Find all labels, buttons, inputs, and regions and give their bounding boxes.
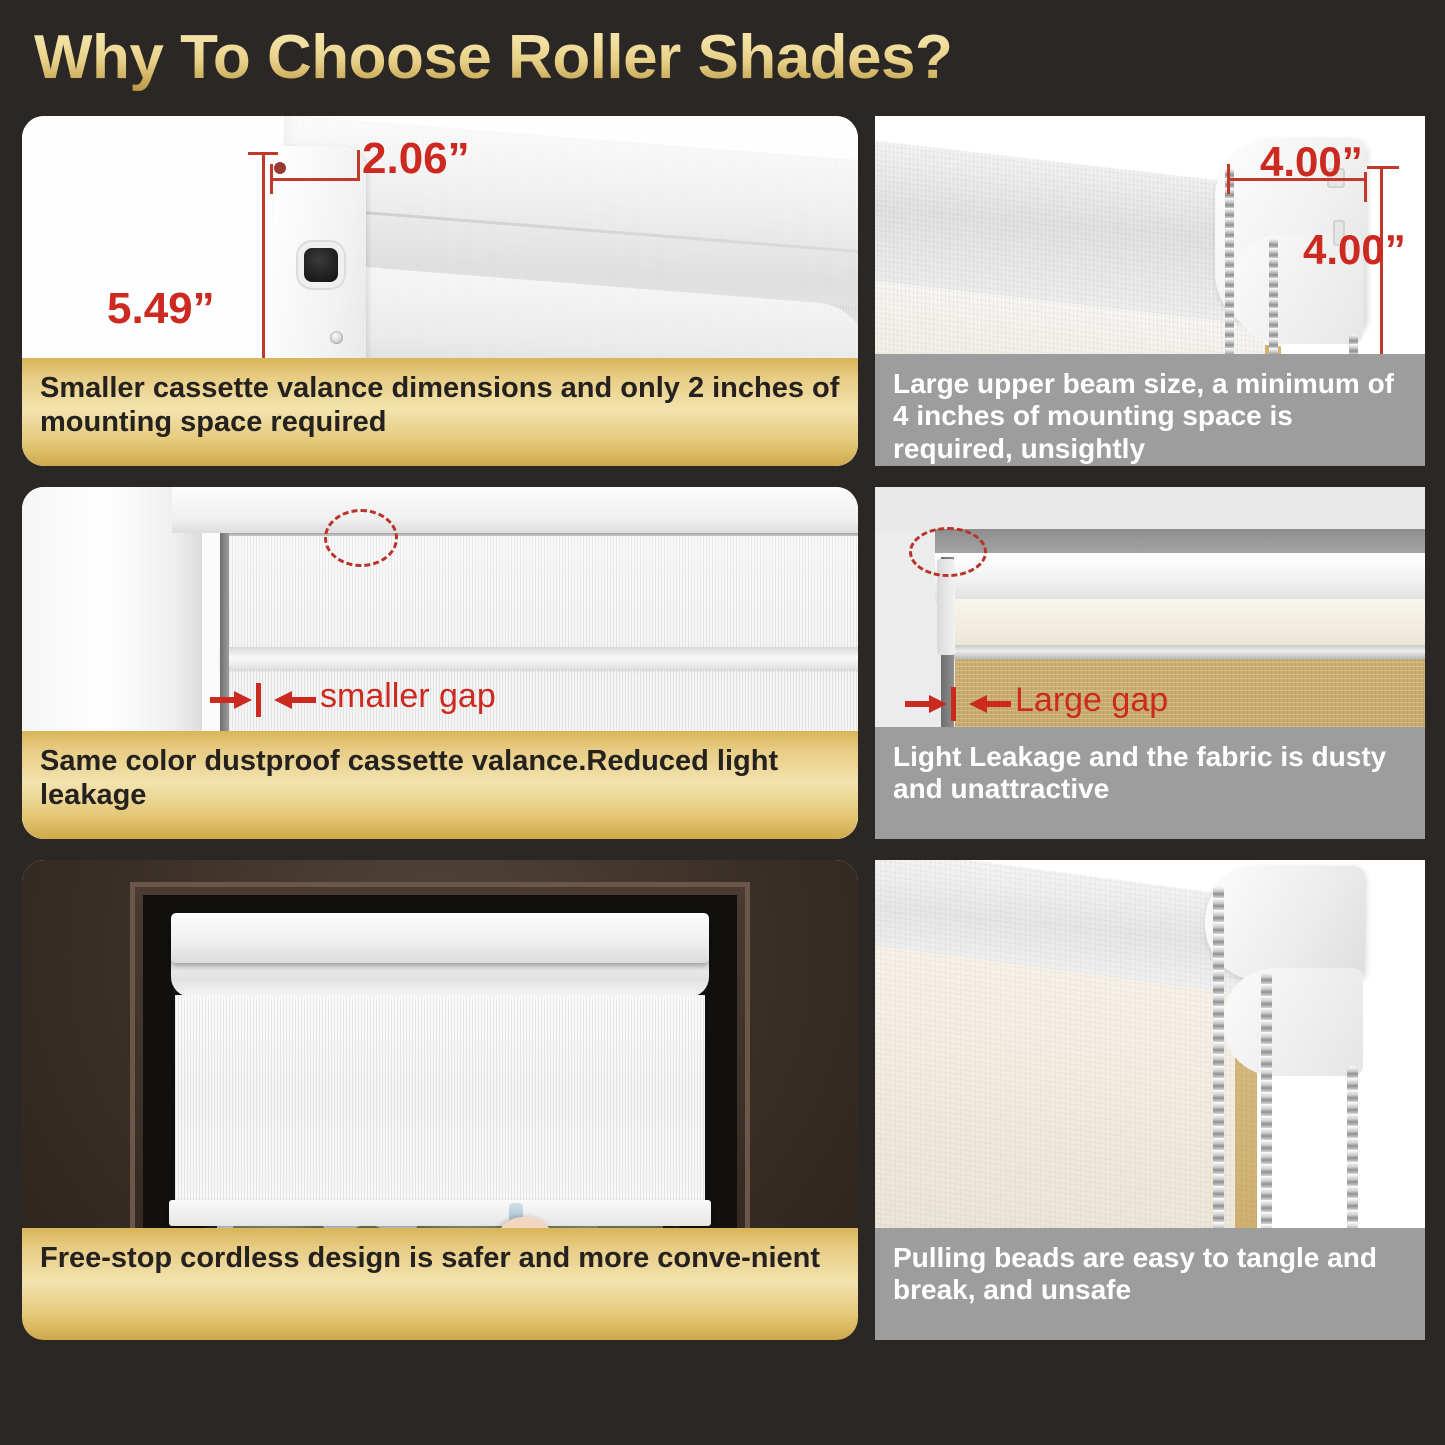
caption-light-leakage: Light Leakage and the fabric is dusty an… [875, 727, 1425, 839]
caption-dustproof-valance: Same color dustproof cassette valance.Re… [22, 731, 858, 839]
highlight-circle-icon [324, 509, 398, 567]
fabric-texture [175, 995, 705, 1213]
gap-callout-label: Large gap [1015, 681, 1168, 720]
dimension-cap-top [248, 152, 278, 155]
window-frame-top [172, 487, 858, 533]
page-title: Why To Choose Roller Shades? [34, 22, 1034, 94]
panel-light-leakage: Large gap Light Leakage and the fabric i… [875, 487, 1425, 839]
highlight-circle-icon [909, 527, 987, 577]
panel-dustproof-valance: smaller gap Same color dustproof cassett… [22, 487, 858, 839]
valance-lower [953, 599, 1425, 649]
panel-pulling-beads: Pulling beads are easy to tangle and bre… [875, 860, 1425, 1340]
height-dimension-label: 4.00” [1303, 226, 1406, 274]
bracket-slot-icon [304, 248, 338, 282]
caption-cassette-dimensions: Smaller cassette valance dimensions and … [22, 358, 858, 466]
dimension-cap-left [270, 164, 273, 194]
mount-peg-icon [274, 162, 286, 174]
bottom-rail [953, 645, 1425, 659]
caption-cordless-design: Free-stop cordless design is safer and m… [22, 1228, 858, 1340]
dimension-cap-left [1227, 164, 1230, 194]
caption-pulling-beads: Pulling beads are easy to tangle and bre… [875, 1228, 1425, 1340]
cassette-valance [171, 913, 709, 963]
wall-top [875, 487, 1425, 531]
panel-large-beam: 4.00” 4.00” Large upper beam size, a min… [875, 116, 1425, 466]
mounting-bracket-upper [1205, 866, 1365, 981]
panel-cordless-design: Free-stop cordless design is safer and m… [22, 860, 858, 1340]
dimension-cap-right [357, 150, 360, 180]
bottom-rail [169, 1200, 711, 1226]
height-dimension-label: 5.49” [107, 284, 215, 334]
screw-icon [330, 331, 343, 344]
dimension-cap-top [1367, 166, 1399, 169]
mid-rail [220, 647, 858, 669]
depth-dimension-label: 2.06” [362, 134, 470, 184]
dimension-cap-right [1364, 172, 1367, 202]
gap-callout-label: smaller gap [320, 677, 496, 716]
dimension-line-horizontal [270, 178, 360, 181]
panel-cassette-dimensions: 5.49” 2.06” Smaller cassette valance dim… [22, 116, 858, 466]
shade-fabric [175, 995, 705, 1213]
mounting-bracket-lower [1223, 968, 1363, 1076]
infographic-root: Why To Choose Roller Shades? 5.49” [0, 0, 1445, 1445]
valance-front [935, 553, 1425, 605]
caption-large-beam: Large upper beam size, a minimum of 4 in… [875, 354, 1425, 466]
roller-tube [171, 957, 709, 997]
width-dimension-label: 4.00” [1260, 138, 1363, 186]
